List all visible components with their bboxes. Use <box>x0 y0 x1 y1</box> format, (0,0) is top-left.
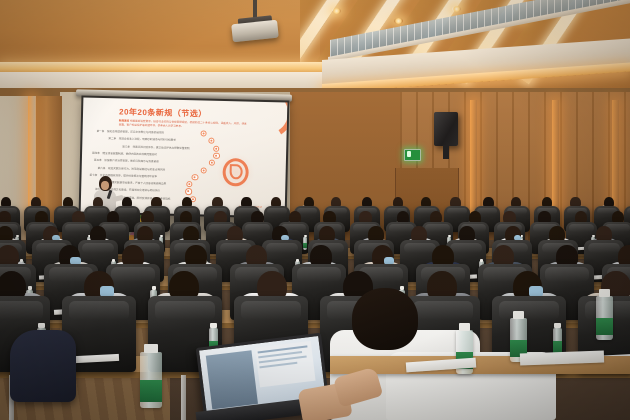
bottle-cap <box>554 323 560 328</box>
bottle-cap <box>112 259 115 262</box>
bottle-cap <box>459 323 470 331</box>
bottle-label <box>140 380 162 402</box>
bottle-cap <box>513 311 524 319</box>
bottle-cap <box>152 286 156 290</box>
bottle-cap <box>144 344 158 353</box>
bottle-cap <box>480 259 483 262</box>
bottle-cap <box>38 323 44 328</box>
desk-leg <box>181 375 185 420</box>
bottle-cap <box>400 286 404 290</box>
bottle-label <box>303 243 307 248</box>
bottle-cap <box>599 289 610 297</box>
bottle-label <box>596 318 613 335</box>
backpack <box>10 330 76 402</box>
bottle-cap <box>210 323 216 328</box>
foreground-attendee-head <box>352 288 418 350</box>
bottle-cap <box>28 286 32 290</box>
bottle-cap <box>296 259 299 262</box>
conference-room-screenshot: 20年20条新规（节选） 新规速览 根据最新监管要求，结合行业实践与合规管理经验… <box>0 0 630 420</box>
